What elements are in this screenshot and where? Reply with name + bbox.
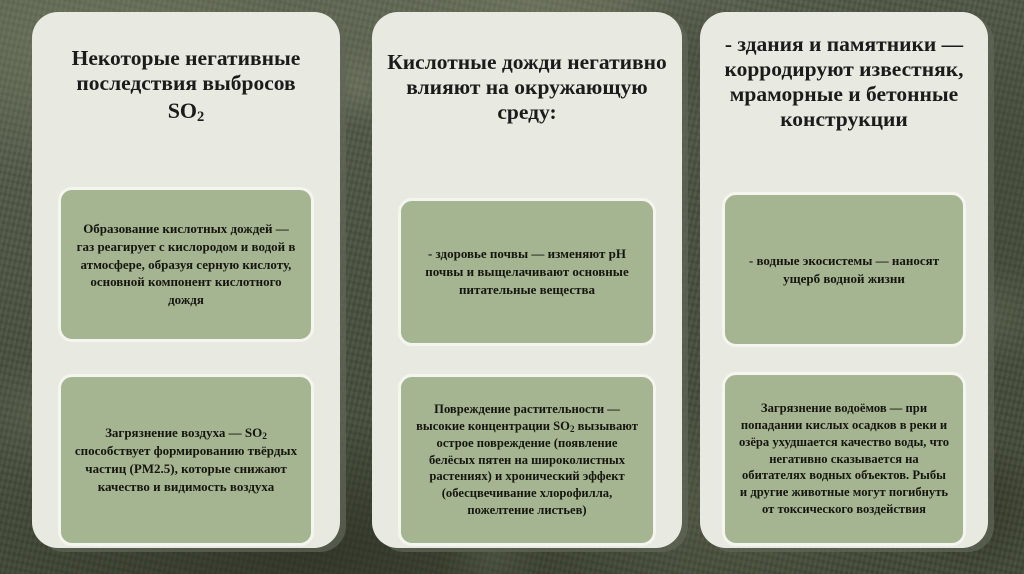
formula-subscript: 2 <box>197 109 204 125</box>
panel-3-box-2-text: Загрязнение водоёмов — при попадании кис… <box>737 400 951 518</box>
panel-2-box-2-subscript: 2 <box>570 424 575 434</box>
panel-container: Некоторые негативные последствия выбросо… <box>0 0 1024 574</box>
panel-1-box-1-text: Образование кислотных дождей — газ реаги… <box>73 220 299 310</box>
panel-2-box-2: Повреждение растительности — высокие кон… <box>398 374 656 546</box>
panel-3-box-2: Загрязнение водоёмов — при попадании кис… <box>722 372 966 546</box>
panel-3-title: - здания и памятники — корродируют извес… <box>700 12 988 132</box>
panel-1-box-1: Образование кислотных дождей — газ реаги… <box>58 187 314 342</box>
panel-2-box-1: - здоровье почвы — изменяют pH почвы и в… <box>398 198 656 346</box>
panel-3-title-text: - здания и памятники — корродируют извес… <box>725 32 964 131</box>
panel-column-3: - здания и памятники — корродируют извес… <box>700 12 988 548</box>
panel-2-box-2-text-after: вызывают острое повреждение (появление б… <box>429 419 638 517</box>
panel-2-box-2-text: Повреждение растительности — высокие кон… <box>413 401 641 519</box>
panel-3-box-1: - водные экосистемы — наносят ущерб водн… <box>722 192 966 347</box>
panel-column-1: Некоторые негативные последствия выбросо… <box>32 12 340 548</box>
panel-2-title-text: Кислотные дожди негативно влияют на окру… <box>387 50 667 124</box>
panel-2-title: Кислотные дожди негативно влияют на окру… <box>372 12 682 125</box>
panel-1-box-2-text-before: Загрязнение воздуха — SO <box>105 425 262 440</box>
panel-1-box-2: Загрязнение воздуха — SO2 способствует ф… <box>58 374 314 546</box>
slide-canvas: Некоторые негативные последствия выбросо… <box>0 0 1024 574</box>
panel-column-2: Кислотные дожди негативно влияют на окру… <box>372 12 682 548</box>
panel-1-title: Некоторые негативные последствия выбросо… <box>32 12 340 123</box>
panel-3-box-1-text: - водные экосистемы — наносят ущерб водн… <box>737 252 951 288</box>
formula-symbol: SO <box>168 98 197 123</box>
panel-1-title-formula: SO2 <box>46 98 326 124</box>
panel-1-box-2-text: Загрязнение воздуха — SO2 способствует ф… <box>73 424 299 496</box>
panel-2-box-1-text: - здоровье почвы — изменяют pH почвы и в… <box>413 245 641 299</box>
panel-1-box-2-text-after: способствует формированию твёрдых частиц… <box>75 443 297 494</box>
panel-1-box-2-subscript: 2 <box>262 432 267 442</box>
panel-1-title-text: Некоторые негативные последствия выбросо… <box>72 46 301 95</box>
